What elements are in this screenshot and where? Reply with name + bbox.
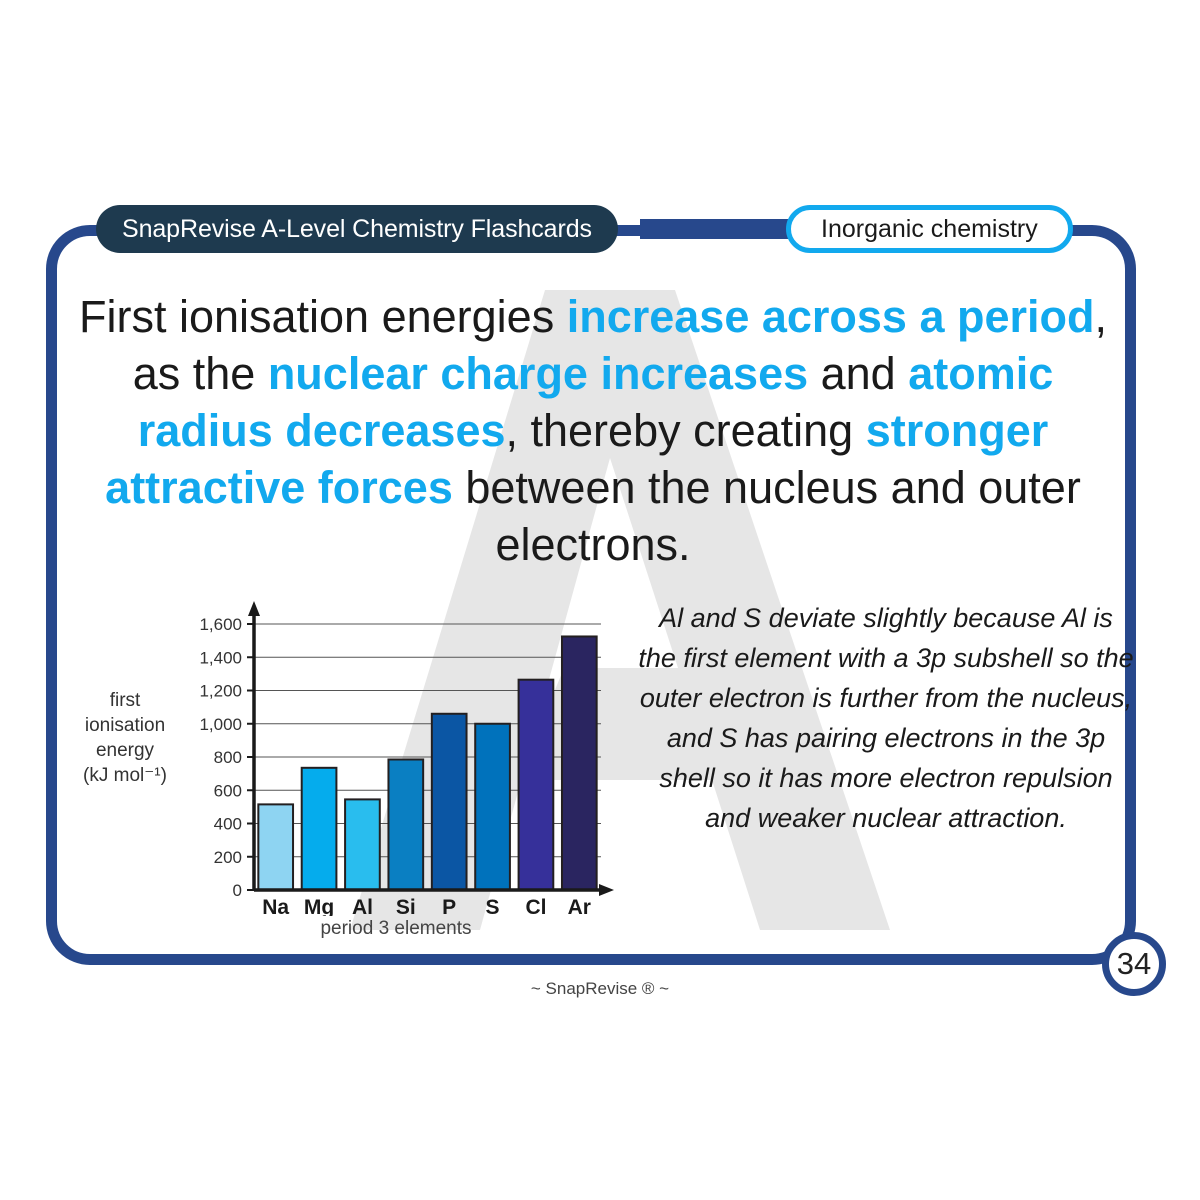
topic-label: Inorganic chemistry <box>821 215 1038 244</box>
statement-plain: and <box>808 348 908 399</box>
chart-x-tick-labels: NaMgAlSiPSClAr <box>262 896 591 916</box>
chart-y-tick-label: 600 <box>214 781 242 800</box>
statement-text: First ionisation energies increase acros… <box>70 288 1116 573</box>
chart-y-axis-label: firstionisationenergy(kJ mol⁻¹) <box>66 688 184 788</box>
chart-bar <box>475 724 510 890</box>
chart-bar <box>432 714 467 890</box>
flashcard-page: SnapRevise A-Level Chemistry Flashcards … <box>0 0 1200 1200</box>
chart-x-tick-label: S <box>486 896 500 916</box>
statement-plain: , thereby creating <box>506 405 866 456</box>
chart-y-axis-label-line: energy <box>66 738 184 763</box>
brand-title-pill: SnapRevise A-Level Chemistry Flashcards <box>96 205 618 253</box>
page-number-label: 34 <box>1117 946 1151 982</box>
chart-x-tick-label: Si <box>396 896 416 916</box>
statement-plain: between the nucleus and outer electrons. <box>453 462 1081 570</box>
chart-x-tick-label: Al <box>352 896 373 916</box>
statement-highlight: nuclear charge increases <box>268 348 808 399</box>
page-number-badge: 34 <box>1102 932 1166 996</box>
chart-y-tick-labels: 02004006008001,0001,2001,4001,600 <box>199 615 254 900</box>
chart-x-tick-label: Cl <box>525 896 546 916</box>
side-note-text: Al and S deviate slightly because Al is … <box>638 598 1134 838</box>
chart-y-axis-label-line: (kJ mol⁻¹) <box>66 763 184 788</box>
topic-pill[interactable]: Inorganic chemistry <box>786 205 1073 253</box>
chart-y-tick-label: 1,200 <box>199 682 242 701</box>
ionisation-energy-bar-chart: firstionisationenergy(kJ mol⁻¹) 02004006… <box>66 596 636 946</box>
statement-highlight: increase across a period <box>567 291 1095 342</box>
chart-bar <box>388 759 423 890</box>
chart-y-axis-label-line: first <box>66 688 184 713</box>
chart-bar <box>258 804 293 890</box>
chart-y-tick-label: 1,000 <box>199 715 242 734</box>
brand-title-label: SnapRevise A-Level Chemistry Flashcards <box>122 215 592 244</box>
chart-bar <box>562 636 597 890</box>
chart-y-tick-label: 200 <box>214 848 242 867</box>
chart-x-tick-label: Mg <box>304 896 334 916</box>
chart-x-axis-caption: period 3 elements <box>246 918 546 940</box>
chart-y-tick-label: 400 <box>214 815 242 834</box>
chart-x-tick-label: Na <box>262 896 289 916</box>
chart-y-tick-label: 800 <box>214 748 242 767</box>
statement-plain: First ionisation energies <box>79 291 567 342</box>
footer-note: ~ SnapRevise ® ~ <box>0 979 1200 999</box>
chart-bar <box>302 768 337 890</box>
chart-y-tick-label: 1,400 <box>199 648 242 667</box>
chart-x-tick-label: Ar <box>568 896 591 916</box>
chart-bar <box>345 799 380 890</box>
chart-plot-area: 02004006008001,0001,2001,4001,600 NaMgAl… <box>176 596 616 916</box>
chart-y-tick-label: 0 <box>233 881 242 900</box>
chart-bar <box>519 680 554 890</box>
chart-x-tick-label: P <box>442 896 456 916</box>
chart-y-axis-label-line: ionisation <box>66 713 184 738</box>
chart-bars <box>258 636 596 890</box>
chart-y-tick-label: 1,600 <box>199 615 242 634</box>
